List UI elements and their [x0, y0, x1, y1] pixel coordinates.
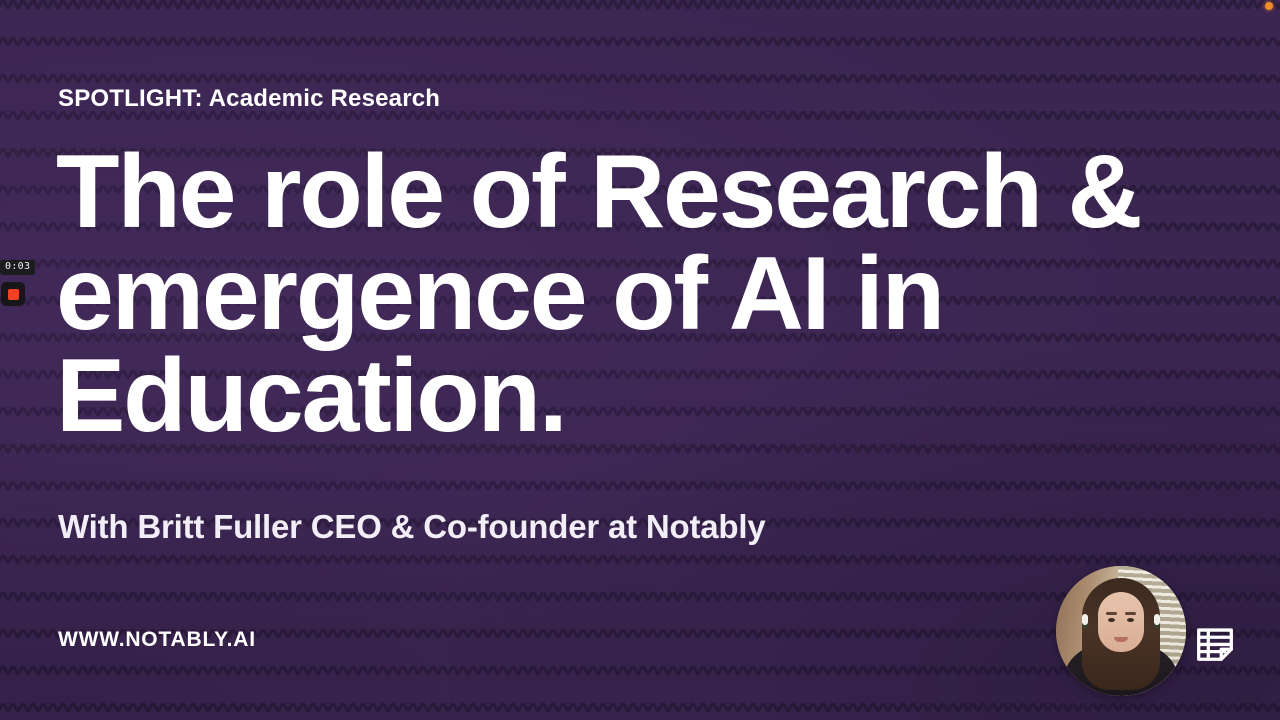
notably-table-logo-icon	[1192, 620, 1238, 666]
presenter-earring-right	[1154, 614, 1160, 625]
presenter-eye-left	[1108, 618, 1115, 622]
spotlight-eyebrow-label: SPOTLIGHT: Academic Research	[58, 85, 440, 113]
slide-content: SPOTLIGHT: Academic Research The role of…	[0, 0, 1280, 720]
slide-subheadline: With Britt Fuller CEO & Co-founder at No…	[58, 508, 766, 546]
presenter-webcam-bubble[interactable]	[1056, 566, 1186, 696]
slide-headline: The role of Research & emergence of AI i…	[56, 142, 1186, 448]
webcam-video-frame	[1056, 566, 1186, 696]
recording-status-dot-icon	[1265, 2, 1273, 10]
presenter-eyebrow-right	[1125, 612, 1136, 615]
presenter-eyebrow-left	[1106, 612, 1117, 615]
stop-record-square-icon	[8, 289, 19, 300]
presentation-slide: SPOTLIGHT: Academic Research The role of…	[0, 0, 1280, 720]
presenter-earring-left	[1082, 614, 1088, 625]
stop-recording-button[interactable]	[1, 282, 25, 306]
presenter-eye-right	[1127, 618, 1134, 622]
presenter-mouth	[1114, 637, 1128, 642]
website-url-label: WWW.NOTABLY.AI	[58, 628, 256, 652]
recording-timer: 0:03	[0, 260, 35, 275]
presenter-face	[1098, 592, 1144, 652]
